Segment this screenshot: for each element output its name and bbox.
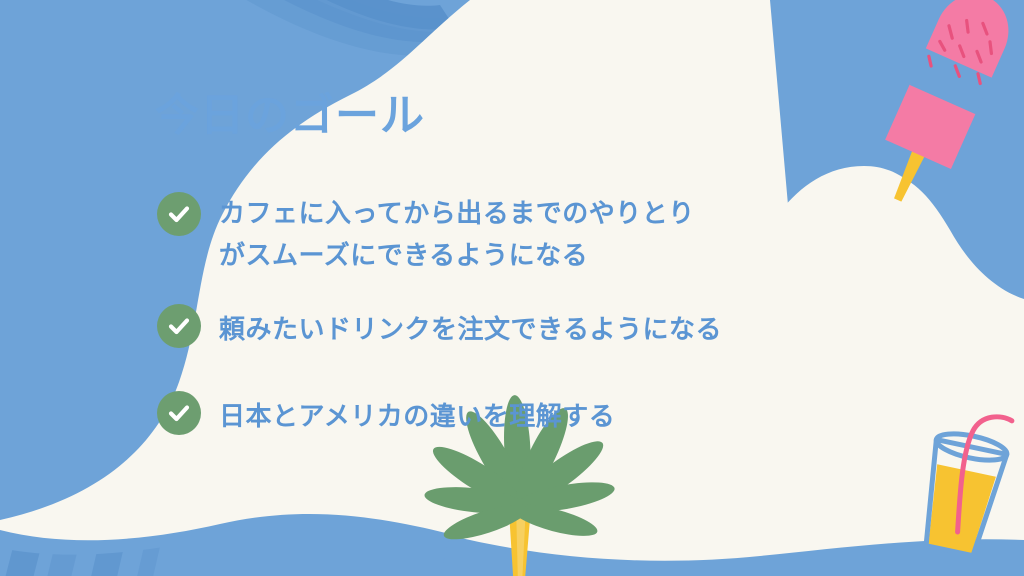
goal-text: 頼みたいドリンクを注文できるようになる xyxy=(219,302,722,350)
goal-text: 日本とアメリカの違いを理解する xyxy=(219,389,615,437)
goal-list-item: カフェに入ってから出るまでのやりとり がスムーズにできるようになる xyxy=(157,190,695,276)
slide-canvas: 今日のゴール カフェに入ってから出るまでのやりとり がスムーズにできるようになる… xyxy=(0,0,1024,576)
check-circle-icon xyxy=(157,304,201,348)
goal-list-item: 頼みたいドリンクを注文できるようになる xyxy=(157,302,722,350)
check-circle-icon xyxy=(157,192,201,236)
check-circle-icon xyxy=(157,391,201,435)
slide-content: 今日のゴール カフェに入ってから出るまでのやりとり がスムーズにできるようになる… xyxy=(0,0,1024,576)
page-title: 今日のゴール xyxy=(155,92,425,140)
goal-text: カフェに入ってから出るまでのやりとり がスムーズにできるようになる xyxy=(219,190,695,276)
goal-list-item: 日本とアメリカの違いを理解する xyxy=(157,389,615,437)
